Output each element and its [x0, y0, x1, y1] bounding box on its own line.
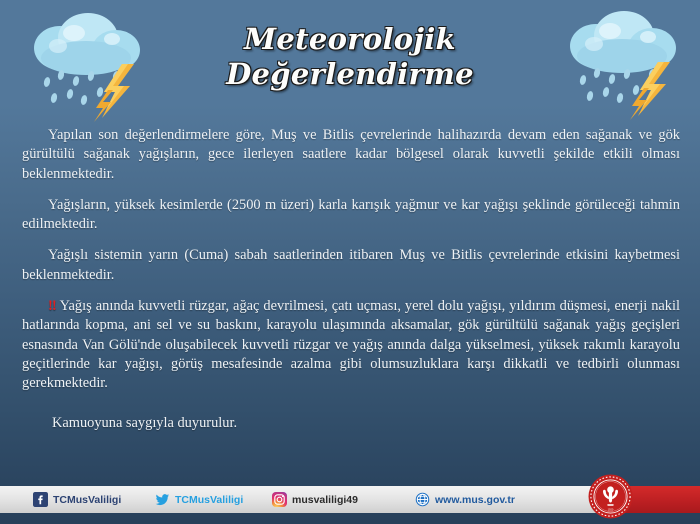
social-link-website[interactable]: www.mus.gov.tr: [415, 492, 515, 507]
poster-header: Meteorolojik Değerlendirme: [0, 0, 700, 122]
social-handle-twitter: TCMusValiligi: [175, 494, 243, 506]
twitter-icon: [155, 492, 170, 507]
social-handle-instagram: musvaliligi49: [292, 494, 358, 506]
warning-mark-icon: ‼: [48, 298, 56, 314]
paragraph-3: Yağışlı sistemin yarın (Cuma) sabah saat…: [22, 246, 680, 285]
paragraph-4-text: Yağış anında kuvvetli rüzgar, ağaç devri…: [22, 298, 680, 391]
thunderstorm-rain-cloud-icon: [552, 4, 692, 120]
meteorological-evaluation-poster: Meteorolojik Değerlendirme: [0, 0, 700, 524]
globe-icon: [415, 492, 430, 507]
thunderstorm-rain-cloud-icon: [16, 6, 156, 122]
turkish-interior-ministry-seal-icon: 1920: [588, 474, 633, 519]
paragraph-1: Yapılan son değerlendirmelere göre, Muş …: [22, 126, 680, 184]
svg-text:1920: 1920: [608, 508, 614, 512]
facebook-icon: [33, 492, 48, 507]
paragraph-4: ‼ Yağış anında kuvvetli rüzgar, ağaç dev…: [22, 297, 680, 393]
paragraph-5: Kamuoyuna saygıyla duyurulur.: [22, 414, 680, 433]
social-link-twitter[interactable]: TCMusValiligi: [155, 492, 243, 507]
paragraph-2: Yağışların, yüksek kesimlerde (2500 m üz…: [22, 196, 680, 235]
social-link-facebook[interactable]: TCMusValiligi: [33, 492, 121, 507]
social-link-instagram[interactable]: musvaliligi49: [272, 492, 358, 507]
social-handle-website: www.mus.gov.tr: [435, 494, 515, 506]
instagram-icon: [272, 492, 287, 507]
poster-footer: TCMusValiligi TCMusValiligi: [0, 478, 700, 524]
poster-body: Yapılan son değerlendirmelere göre, Muş …: [22, 126, 680, 433]
social-handle-facebook: TCMusValiligi: [53, 494, 121, 506]
